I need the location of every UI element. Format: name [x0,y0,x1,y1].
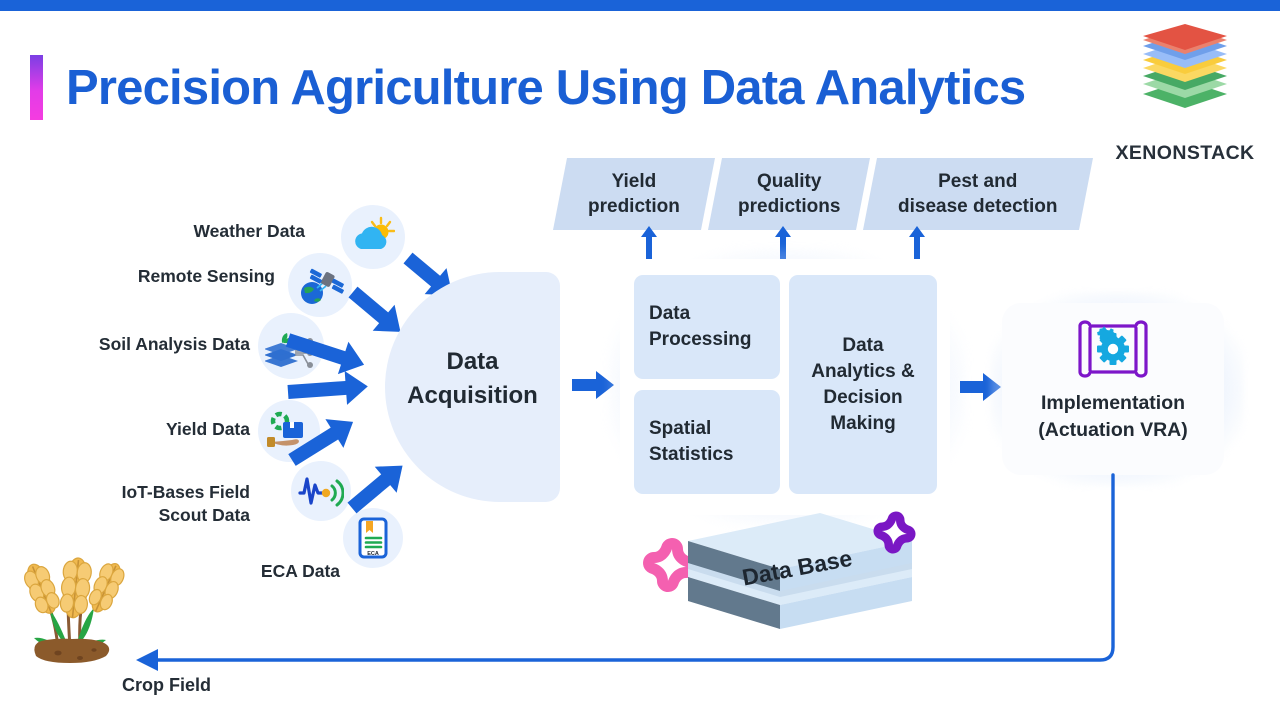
acq-line1: Data [446,348,498,375]
output-quality-line2: predictions [738,196,840,217]
crop-field-label: Crop Field [122,675,211,696]
brand-name: XENONSTACK [1095,142,1275,165]
output-pest-line1: Pest and [938,171,1017,192]
data-processing-text: Data Processing [634,301,759,353]
input-label-soil: Soil Analysis Data [35,333,250,356]
output-box-quality-predictions[interactable]: Quality predictions [708,158,870,230]
title-accent-bar [30,55,43,120]
analytics-line1: Data [842,335,883,356]
input-label-weather: Weather Data [60,220,305,243]
output-box-yield-prediction[interactable]: Yield prediction [553,158,715,230]
xenonstack-layers-icon [1135,24,1235,112]
output-yield-line2: prediction [588,196,680,217]
output-quality-text: Quality predictions [738,169,840,219]
output-pest-line2: disease detection [898,196,1057,217]
data-processing-line2: Processing [649,329,751,350]
blueprint-gear-icon [1077,320,1149,382]
slide-canvas: Precision Agriculture Using Data Analyti… [0,0,1280,720]
page-title: Precision Agriculture Using Data Analyti… [66,52,1076,124]
output-pest-text: Pest and disease detection [898,169,1057,219]
brand-logo: XENONSTACK [1095,24,1275,146]
top-accent-strip [0,0,1280,11]
output-yield-text: Yield prediction [588,169,680,219]
data-processing-line1: Data [649,303,690,324]
processing-box-data-processing[interactable]: Data Processing [634,275,780,379]
output-yield-line1: Yield [612,171,657,192]
output-box-pest-disease-detection[interactable]: Pest and disease detection [863,158,1093,230]
feedback-loop-arrow [120,375,1280,675]
input-label-remote-sensing: Remote Sensing [60,265,275,288]
output-quality-line1: Quality [757,171,821,192]
